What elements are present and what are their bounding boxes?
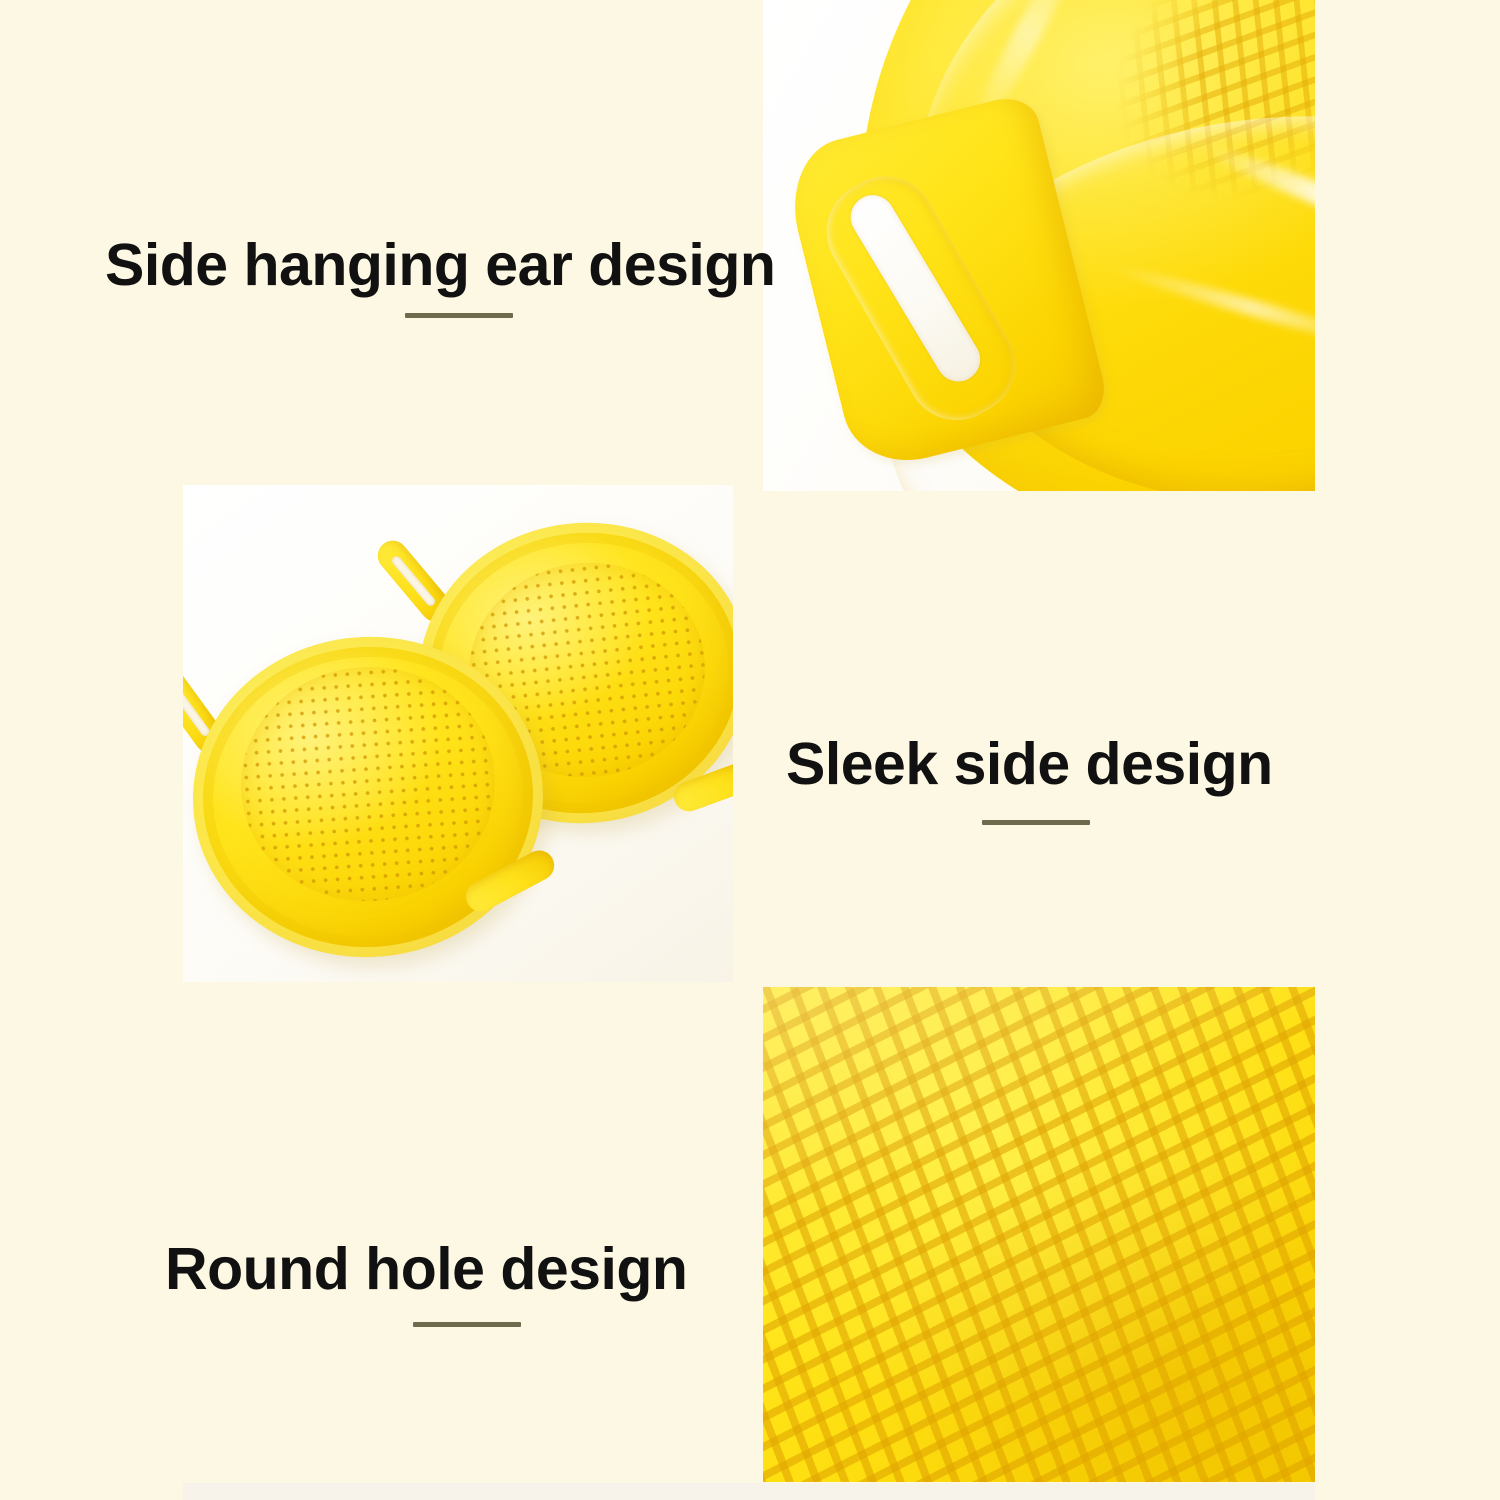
photo-two-strainers	[183, 485, 733, 982]
photo-perforated-mesh-macro	[763, 987, 1315, 1482]
heading-rule-sleek-side	[982, 820, 1090, 825]
handle-scene	[763, 0, 1315, 491]
feature-heading-side-hanging-ear: Side hanging ear design	[105, 236, 775, 295]
photo-panel-bottom-partial	[183, 1483, 1315, 1500]
infographic-page: Side hanging ear design Sleek side desig…	[0, 0, 1500, 1500]
heading-rule-side-hanging-ear	[405, 313, 513, 318]
photo-colander-handle-closeup	[763, 0, 1315, 491]
feature-heading-sleek-side: Sleek side design	[786, 735, 1273, 794]
feature-heading-round-hole: Round hole design	[165, 1240, 687, 1299]
mesh-shading-overlay	[763, 987, 1315, 1482]
heading-rule-round-hole	[413, 1322, 521, 1327]
